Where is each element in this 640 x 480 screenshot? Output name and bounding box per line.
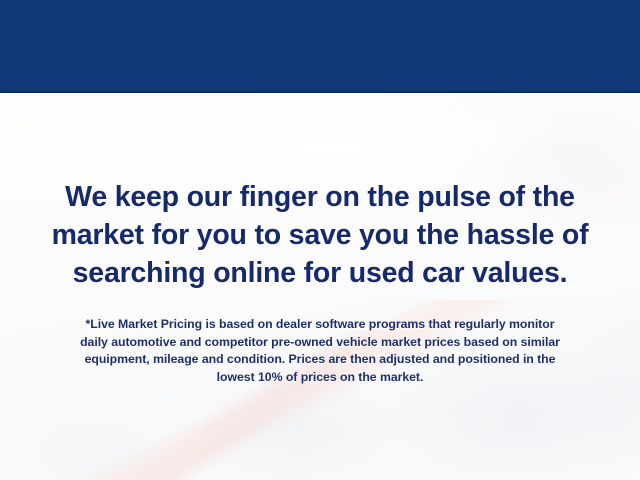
headline-line: market for you to save you the hassle of [26, 216, 614, 254]
header-band [0, 0, 640, 93]
disclaimer: *Live Market Pricing is based on dealer … [26, 316, 614, 386]
headline-line: searching online for used car values. [26, 254, 614, 292]
disclaimer-line: *Live Market Pricing is based on dealer … [26, 316, 614, 334]
disclaimer-line: daily automotive and competitor pre-owne… [26, 334, 614, 352]
live-market-pricing-banner: Live Market Pricing* We keep our finger … [0, 0, 640, 480]
headline-line: We keep our finger on the pulse of the [26, 178, 614, 216]
headline: We keep our finger on the pulse of the m… [26, 178, 614, 292]
disclaimer-line: equipment, mileage and condition. Prices… [26, 351, 614, 369]
disclaimer-line: lowest 10% of prices on the market. [26, 369, 614, 387]
